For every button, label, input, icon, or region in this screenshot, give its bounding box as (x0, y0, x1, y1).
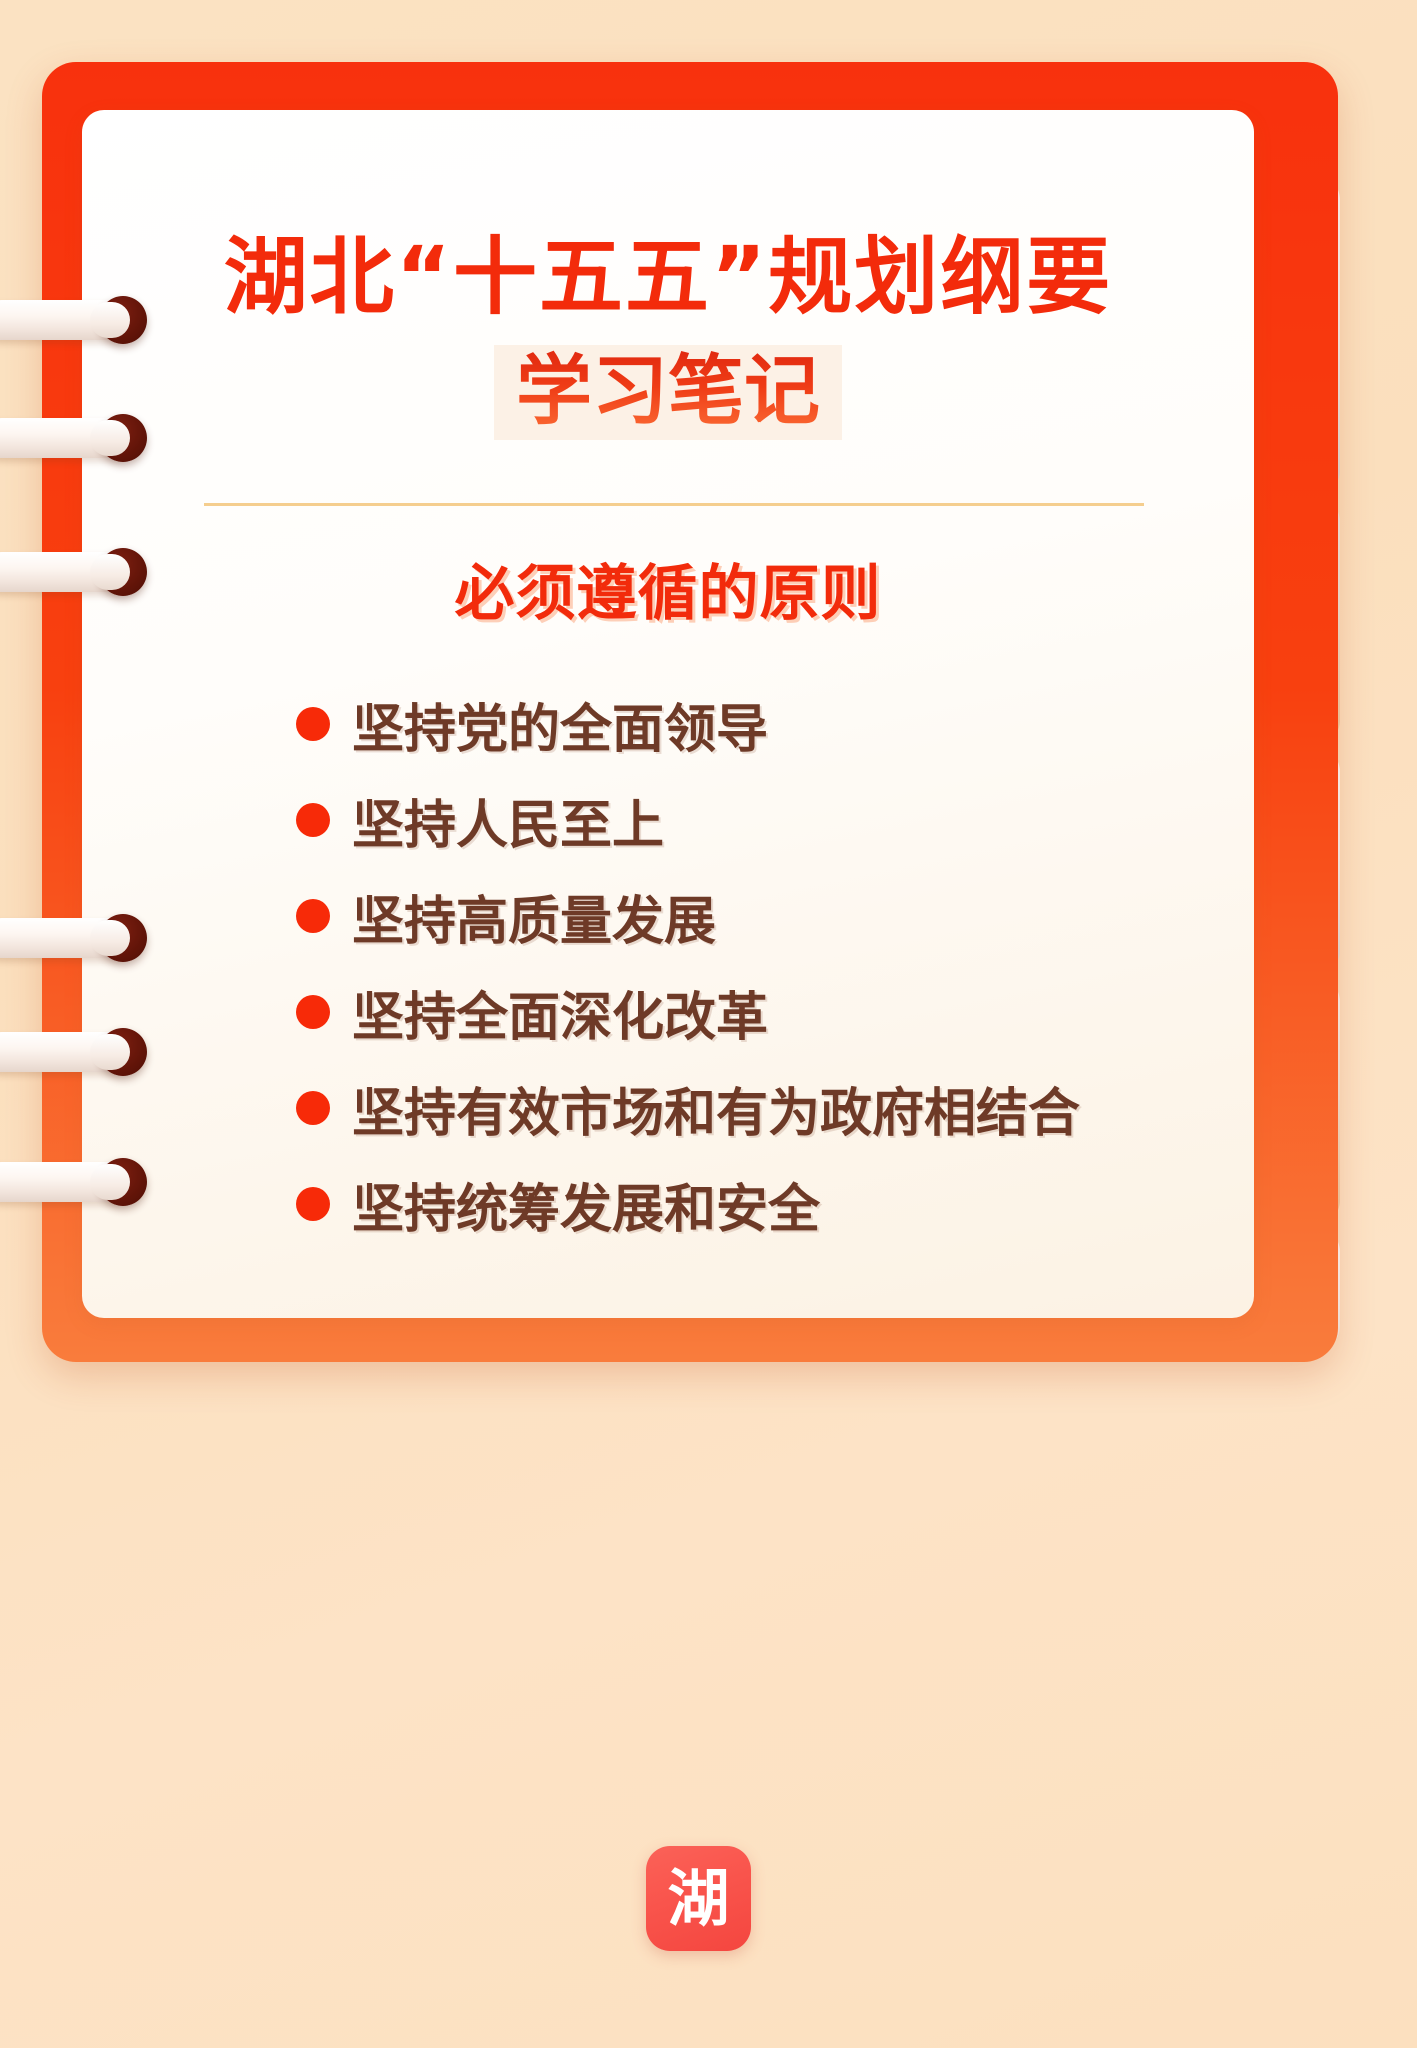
list-item-label: 坚持党的全面领导 (352, 687, 768, 762)
list-item-label: 坚持高质量发展 (352, 879, 716, 954)
bullet-dot-icon (296, 1091, 330, 1125)
binding-ring-cap-icon (99, 914, 147, 962)
binding-ring-1 (0, 300, 152, 340)
page-subtitle: 学习笔记 (516, 346, 820, 435)
bullet-dot-icon (296, 899, 330, 933)
list-item-label: 坚持人民至上 (352, 783, 664, 858)
section-heading-wrap: 必须遵循的原则 (82, 545, 1254, 636)
section-heading-container: 必须遵循的原则 (445, 545, 892, 636)
binding-ring-cap-icon (99, 1028, 147, 1076)
section-heading: 必须遵循的原则 (455, 559, 882, 629)
bullet-dot-icon (296, 1187, 330, 1221)
bullet-dot-icon (296, 707, 330, 741)
binding-ring-cap-icon (99, 1158, 147, 1206)
page-subtitle-highlight: 学习笔记 (494, 345, 842, 440)
list-item-label: 坚持全面深化改革 (352, 975, 768, 1050)
binding-ring-cap-icon (99, 548, 147, 596)
list-item-label: 坚持统筹发展和安全 (352, 1167, 820, 1242)
brand-logo-label: 湖 (667, 1868, 729, 1930)
binding-ring-5 (0, 1032, 152, 1072)
poster-canvas: 湖北“十五五”规划纲要 学习笔记 必须遵循的原则 (0, 0, 1417, 2048)
list-item: 坚持党的全面领导 (296, 676, 1236, 772)
binding-ring-3 (0, 552, 152, 592)
page-subtitle-wrap: 学习笔记 (82, 345, 1254, 440)
page-content: 湖北“十五五”规划纲要 学习笔记 必须遵循的原则 (82, 110, 1254, 1318)
binding-ring-4 (0, 918, 152, 958)
binding-ring-6 (0, 1162, 152, 1202)
brand-logo[interactable]: 湖 (646, 1846, 751, 1951)
binding-ring-2 (0, 418, 152, 458)
divider (204, 503, 1144, 506)
binding-ring-cap-icon (99, 414, 147, 462)
notebook: 湖北“十五五”规划纲要 学习笔记 必须遵循的原则 (42, 62, 1338, 1362)
page-title: 湖北“十五五”规划纲要 (82, 210, 1254, 331)
bullet-dot-icon (296, 995, 330, 1029)
list-item: 坚持统筹发展和安全 (296, 1156, 1236, 1252)
list-item: 坚持全面深化改革 (296, 964, 1236, 1060)
binding-ring-cap-icon (99, 296, 147, 344)
list-item-label: 坚持有效市场和有为政府相结合 (352, 1071, 1080, 1146)
list-item: 坚持有效市场和有为政府相结合 (296, 1060, 1236, 1156)
list-item: 坚持人民至上 (296, 772, 1236, 868)
spiral-binding (0, 0, 200, 1400)
notebook-page: 湖北“十五五”规划纲要 学习笔记 必须遵循的原则 (82, 110, 1254, 1318)
bullet-dot-icon (296, 803, 330, 837)
principles-list: 坚持党的全面领导 坚持人民至上 坚持高质量发展 坚持全面深化改革 (296, 676, 1236, 1252)
list-item: 坚持高质量发展 (296, 868, 1236, 964)
